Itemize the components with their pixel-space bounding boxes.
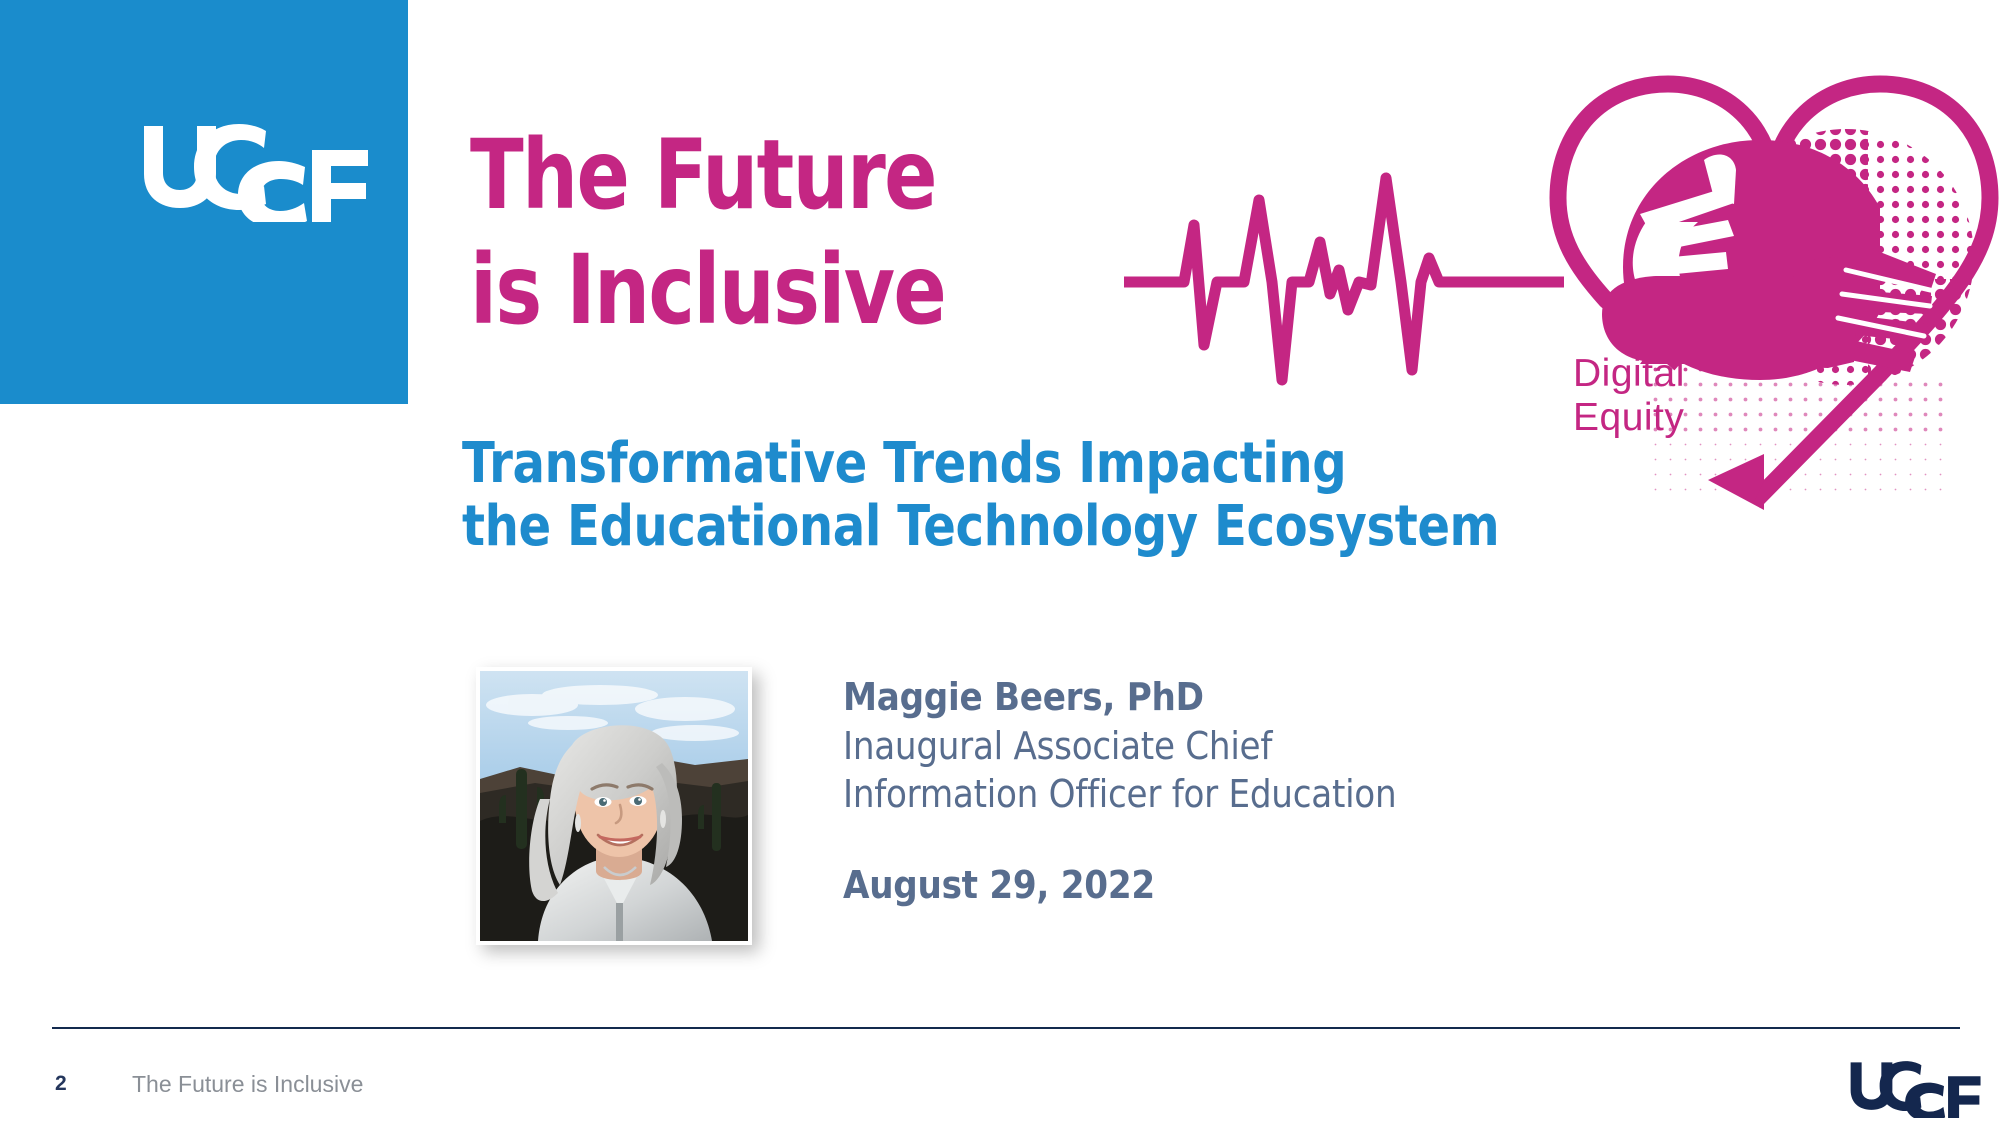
headshot-illustration (480, 671, 748, 941)
heartbeat-ekg-line-icon (1124, 170, 1564, 420)
speaker-photo (480, 671, 748, 941)
speaker-role-line-2: Information Officer for Education (843, 770, 1509, 819)
digital-equity-label-line-1: Digital (1573, 352, 1685, 396)
footer-title: The Future is Inclusive (132, 1071, 363, 1098)
speaker-name: Maggie Beers, PhD (843, 673, 1509, 722)
ucsf-logo-icon (140, 122, 370, 222)
digital-equity-label-line-2: Equity (1573, 396, 1685, 440)
heart-arrow-mark-icon (1528, 62, 2010, 532)
speaker-photo-frame (476, 667, 752, 945)
slide-subtitle: Transformative Trends Impacting the Educ… (462, 432, 1399, 559)
footer-page-number: 2 (55, 1072, 67, 1096)
digital-equity-label: Digital Equity (1573, 352, 1685, 439)
speaker-date: August 29, 2022 (843, 861, 1509, 910)
footer-divider (52, 1027, 1960, 1029)
digital-equity-logo: Digital Equity (1528, 62, 2010, 532)
speaker-role-line-1: Inaugural Associate Chief (843, 722, 1509, 771)
speaker-role: Inaugural Associate Chief Information Of… (843, 722, 1509, 819)
speaker-info: Maggie Beers, PhD Inaugural Associate Ch… (843, 673, 1583, 910)
ucsf-footer-logo-icon (1845, 1060, 1985, 1118)
headline-line-1: The Future (470, 120, 1060, 231)
slide-headline: The Future is Inclusive (470, 120, 1060, 347)
subtitle-line-1: Transformative Trends Impacting (462, 432, 1399, 495)
slide-canvas: The Future is Inclusive Transformative T… (0, 0, 2010, 1133)
subtitle-line-2: the Educational Technology Ecosystem (462, 495, 1399, 558)
ucsf-brand-block (0, 0, 408, 404)
headline-line-2: is Inclusive (470, 235, 1060, 346)
